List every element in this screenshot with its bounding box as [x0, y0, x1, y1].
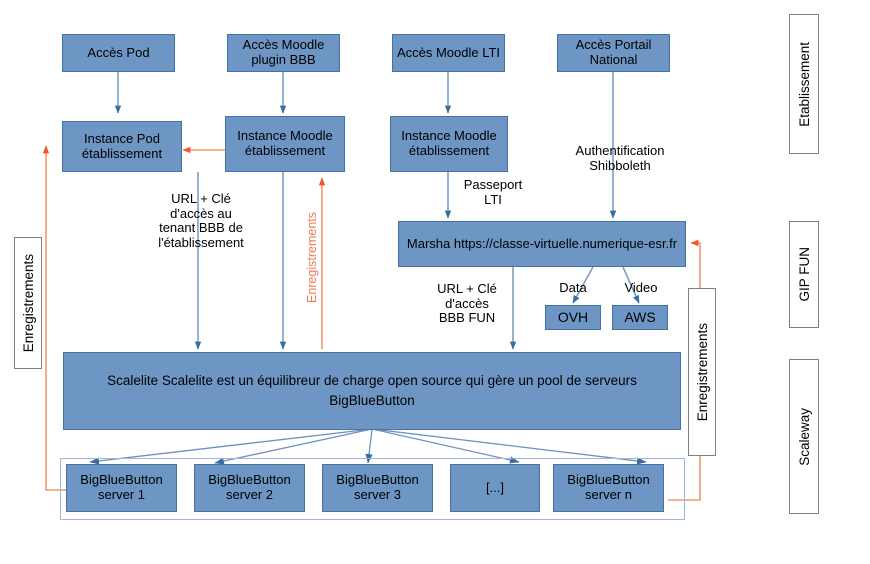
node-scalelite-label: Scalelite Scalelite est un équilibreur d… [67, 371, 677, 410]
zone-gip-fun: GIP FUN [789, 221, 819, 328]
zone-gip-fun-label: GIP FUN [797, 247, 812, 302]
edge-label-authentification-shibboleth: Authentification Shibboleth [548, 144, 692, 173]
zone-scaleway-label: Scaleway [797, 408, 812, 466]
node-acces-pod[interactable]: Accès Pod [62, 34, 175, 72]
node-bbb-server-n-label: BigBlueButton server n [557, 473, 660, 502]
node-marsha[interactable]: Marsha https://classe-virtuelle.numeriqu… [398, 221, 686, 267]
edge-label-video: Video [611, 281, 671, 296]
node-acces-moodle-lti-label: Accès Moodle LTI [396, 46, 501, 61]
node-acces-moodle-plugin[interactable]: Accès Moodle plugin BBB [227, 34, 340, 72]
node-bbb-server-3-label: BigBlueButton server 3 [326, 473, 429, 502]
node-acces-pod-label: Accès Pod [66, 46, 171, 61]
node-bbb-server-n[interactable]: BigBlueButton server n [553, 464, 664, 512]
node-acces-moodle-lti[interactable]: Accès Moodle LTI [392, 34, 505, 72]
recording-box-left-label: Enregistrements [21, 254, 36, 352]
zone-scaleway: Scaleway [789, 359, 819, 514]
diagram-canvas: Accès Pod Accès Moodle plugin BBB Accès … [0, 0, 870, 564]
edge-label-enregistrements-middle: Enregistrements [305, 212, 319, 303]
node-bbb-server-1[interactable]: BigBlueButton server 1 [66, 464, 177, 512]
node-bbb-server-ellipsis[interactable]: [...] [450, 464, 540, 512]
node-acces-portail-national-label: Accès Portail National [561, 38, 666, 67]
node-bbb-server-1-label: BigBlueButton server 1 [70, 473, 173, 502]
node-bbb-server-ellipsis-label: [...] [454, 481, 536, 496]
node-instance-pod[interactable]: Instance Pod établissement [62, 121, 182, 172]
node-marsha-label: Marsha https://classe-virtuelle.numeriqu… [402, 237, 682, 252]
node-scalelite[interactable]: Scalelite Scalelite est un équilibreur d… [63, 352, 681, 430]
edge-label-url-cle-tenant: URL + Clé d'accès au tenant BBB de l'éta… [146, 192, 256, 250]
node-bbb-server-3[interactable]: BigBlueButton server 3 [322, 464, 433, 512]
zone-etablissement-label: Etablissement [797, 42, 812, 127]
node-acces-portail-national[interactable]: Accès Portail National [557, 34, 670, 72]
node-instance-moodle-plugin-label: Instance Moodle établissement [229, 129, 341, 158]
node-ovh[interactable]: OVH [545, 305, 601, 330]
node-instance-moodle-lti[interactable]: Instance Moodle établissement [390, 116, 508, 172]
edge-label-passeport-lti: Passeport LTI [452, 178, 534, 207]
node-bbb-server-2[interactable]: BigBlueButton server 2 [194, 464, 305, 512]
zone-etablissement: Etablissement [789, 14, 819, 154]
node-bbb-server-2-label: BigBlueButton server 2 [198, 473, 301, 502]
recording-box-right-label: Enregistrements [695, 323, 710, 421]
node-ovh-label: OVH [549, 310, 597, 326]
node-instance-moodle-plugin[interactable]: Instance Moodle établissement [225, 116, 345, 172]
node-instance-pod-label: Instance Pod établissement [66, 132, 178, 161]
node-aws[interactable]: AWS [612, 305, 668, 330]
node-instance-moodle-lti-label: Instance Moodle établissement [394, 129, 504, 158]
edge-label-url-cle-bbb-fun: URL + Clé d'accès BBB FUN [424, 282, 510, 326]
recording-box-right: Enregistrements [688, 288, 716, 456]
edge-label-data: Data [543, 281, 603, 296]
node-aws-label: AWS [616, 310, 664, 326]
node-acces-moodle-plugin-label: Accès Moodle plugin BBB [231, 38, 336, 67]
recording-box-left: Enregistrements [14, 237, 42, 369]
